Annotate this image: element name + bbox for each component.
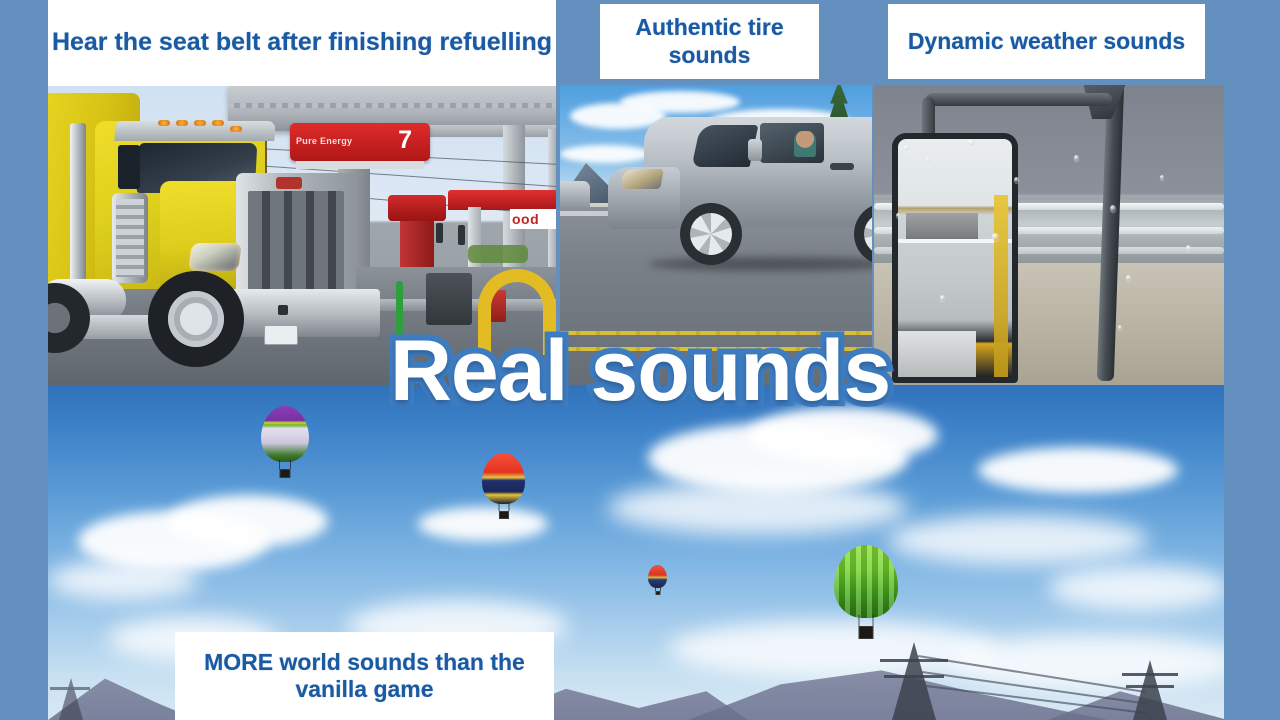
balloon-basket: [280, 469, 291, 478]
tower-mast: [59, 678, 83, 720]
cab-marker-light: [158, 120, 170, 126]
rain-droplet: [1126, 275, 1131, 281]
mirror-top-arm: [926, 93, 1112, 106]
oncoming-car: [560, 181, 590, 209]
rain-droplet: [1110, 205, 1116, 212]
caption-tire-sounds-text: Authentic tire sounds: [600, 14, 819, 68]
tower-mast: [892, 642, 936, 720]
license-plate: [264, 325, 298, 345]
caption-more-sounds-text: MORE world sounds than the vanilla game: [175, 649, 554, 703]
mirror-lower-section: [896, 331, 976, 377]
far-canopy: [448, 190, 556, 210]
front-wheel: [148, 271, 244, 367]
cloud: [620, 91, 740, 113]
balloon-ropes: [498, 502, 509, 511]
pump-number: 7: [398, 126, 412, 155]
rain-droplet: [940, 295, 945, 301]
yellow-bollard: [478, 269, 556, 355]
balloon-basket: [655, 591, 660, 595]
cloud: [888, 515, 1148, 565]
balloon-envelope: [482, 453, 525, 504]
tower-arm: [1122, 673, 1178, 676]
road-center-line: [560, 347, 872, 351]
cloud: [748, 407, 938, 463]
balloon-basket: [499, 511, 509, 519]
balloon-ropes: [279, 460, 291, 469]
van-headlight: [620, 169, 664, 189]
hot-air-balloon-green: [834, 545, 898, 639]
cab-marker-light: [176, 120, 188, 126]
van-door-handle: [830, 163, 854, 170]
roadside-greenery: [468, 245, 528, 263]
traffic-light: [436, 223, 443, 243]
exhaust-stack: [70, 123, 86, 293]
hood-emblem: [276, 177, 302, 189]
tower-mast: [1133, 660, 1167, 720]
rain-droplet: [992, 233, 999, 241]
balloon-basket: [859, 626, 874, 639]
mirror-reflection-buildings: [906, 213, 978, 239]
hot-air-balloon-purple: [261, 406, 309, 478]
rain-droplet: [1118, 325, 1122, 330]
cloud: [978, 447, 1178, 493]
panel-dynamic-weather: [874, 85, 1224, 385]
food-sign: ood: [510, 209, 556, 229]
transmission-tower: [874, 638, 954, 720]
caption-refuelling: Hear the seat belt after finishing refue…: [48, 0, 556, 86]
road-center-line: [560, 331, 872, 335]
cloud: [48, 560, 198, 600]
van-driver: [794, 131, 816, 157]
rain-droplet: [1014, 177, 1019, 183]
balloon-envelope: [261, 406, 309, 462]
rain-droplet: [896, 213, 900, 218]
balloon-envelope: [834, 545, 898, 618]
rain-droplet: [904, 145, 909, 151]
cab-marker-light: [230, 126, 242, 132]
semi-truck: [48, 93, 400, 385]
promo-image: 7 Pure Energy ood: [0, 0, 1280, 720]
caption-refuelling-text: Hear the seat belt after finishing refue…: [52, 28, 552, 58]
rain-droplet: [1160, 175, 1164, 180]
transmission-tower: [1118, 658, 1182, 720]
hot-air-balloon-small-red: [648, 565, 667, 595]
caption-tire-sounds: Authentic tire sounds: [600, 4, 819, 79]
tower-arm: [1126, 685, 1174, 688]
van-shadow: [648, 257, 872, 271]
trash-bin: [426, 273, 472, 325]
caption-more-sounds: MORE world sounds than the vanilla game: [175, 632, 554, 720]
panel-van-tire-sounds: [560, 85, 872, 385]
side-window: [118, 145, 140, 189]
tower-arm: [880, 659, 948, 662]
cloud: [608, 481, 908, 535]
hot-air-balloon-red: [482, 453, 525, 519]
transmission-tower: [48, 676, 94, 720]
cloud: [168, 495, 328, 547]
panel-truck-refuelling: 7 Pure Energy ood: [48, 85, 556, 385]
van-side-mirror: [748, 139, 762, 161]
headlight: [188, 243, 242, 271]
caption-weather-sounds-text: Dynamic weather sounds: [908, 28, 1185, 55]
mirror-reflection-trailer: [994, 195, 1008, 383]
rain-droplet: [1186, 245, 1191, 251]
cloud: [1048, 565, 1224, 611]
rain-droplet: [968, 139, 974, 146]
truck-grille: [236, 173, 356, 303]
rain-droplet: [926, 157, 930, 162]
cab-marker-light: [212, 120, 224, 126]
cab-marker-light: [194, 120, 206, 126]
rain-droplet: [1074, 155, 1079, 161]
tower-arm: [50, 687, 90, 690]
station-canopy-beam: [408, 125, 556, 137]
tower-arm: [884, 675, 944, 678]
van-front-wheel: [680, 203, 742, 265]
balloon-envelope: [648, 565, 667, 588]
air-filter: [112, 193, 148, 283]
truck-side-mirror: [892, 133, 1018, 383]
caption-weather-sounds: Dynamic weather sounds: [888, 4, 1205, 79]
traffic-light: [458, 225, 465, 245]
cargo-van: [608, 111, 872, 271]
